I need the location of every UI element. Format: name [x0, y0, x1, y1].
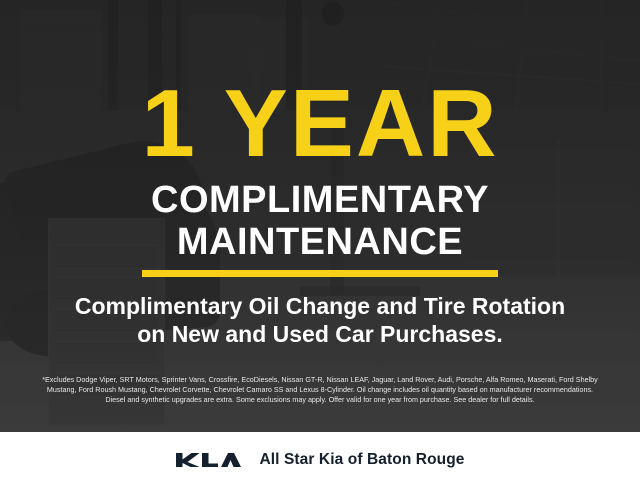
disclaimer-block: *Excludes Dodge Viper, SRT Motors, Sprin…	[14, 375, 626, 406]
headline-maintenance: MAINTENANCE	[0, 222, 640, 262]
offer-description-line2: on New and Used Car Purchases.	[0, 320, 640, 348]
kia-logo	[175, 450, 241, 470]
disclaimer-line-2: Mustang, Ford Roush Mustang, Chevrolet C…	[14, 385, 626, 395]
promo-banner: 1 YEAR COMPLIMENTARY MAINTENANCE Complim…	[0, 0, 640, 488]
disclaimer-line-1: *Excludes Dodge Viper, SRT Motors, Sprin…	[14, 375, 626, 385]
dealer-name: All Star Kia of Baton Rouge	[259, 451, 464, 469]
accent-divider-bar	[142, 270, 498, 277]
disclaimer-line-3: Diesel and synthetic upgrades are extra.…	[14, 395, 626, 405]
banner-content: 1 YEAR COMPLIMENTARY MAINTENANCE Complim…	[0, 0, 640, 488]
headline-complimentary: COMPLIMENTARY	[0, 180, 640, 220]
dealer-footer: All Star Kia of Baton Rouge	[0, 432, 640, 488]
offer-description-line1: Complimentary Oil Change and Tire Rotati…	[0, 292, 640, 320]
headline-year: 1 YEAR	[0, 76, 640, 172]
